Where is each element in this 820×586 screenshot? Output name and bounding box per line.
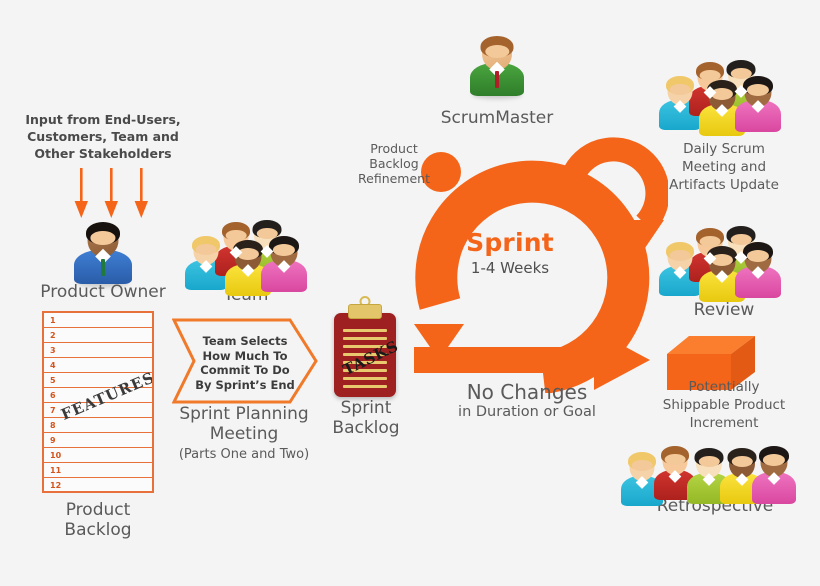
backlog-item: 12 [44, 478, 152, 493]
down-arrow-icon [105, 168, 118, 218]
sprint-backlog-clipboard: TASKS [334, 313, 396, 397]
sprint-planning-sublabel: (Parts One and Two) [164, 447, 324, 462]
sprint-backlog-label: Sprint Backlog [320, 398, 412, 438]
no-changes-title: No Changes [432, 381, 622, 405]
product-backlog-label: Product Backlog [28, 500, 168, 540]
sprint-center-text: Sprint 1-4 Weeks [420, 228, 600, 277]
backlog-item: 2 [44, 328, 152, 343]
backlog-item: 5 [44, 373, 152, 388]
product-backlog-refinement-label: Product Backlog Refinement [348, 142, 440, 186]
product-owner-avatar [72, 222, 134, 284]
retrospective-group-avatars [620, 442, 796, 508]
clipboard-clip-icon [348, 304, 382, 319]
sprint-title: Sprint [420, 228, 600, 257]
scrum-diagram: Input from End-Users, Customers, Team an… [0, 0, 820, 586]
daily-scrum-label: Daily Scrum Meeting and Artifacts Update [650, 140, 798, 195]
input-stakeholders-note: Input from End-Users, Customers, Team an… [14, 112, 192, 163]
backlog-item: 6 [44, 388, 152, 403]
sprint-planning-chevron-text: Team Selects How Much To Commit To Do By… [172, 334, 318, 393]
daily-scrum-group-avatars [656, 52, 784, 134]
team-member-avatar [751, 446, 797, 504]
sprint-planning-chevron: Team Selects How Much To Commit To Do By… [172, 318, 318, 404]
backlog-item: 7 [44, 403, 152, 418]
review-label: Review [650, 300, 798, 320]
down-arrow-icon [75, 168, 88, 218]
scrum-master-label: ScrumMaster [422, 108, 572, 128]
backlog-item: 8 [44, 418, 152, 433]
product-backlog-table: 1 2 3 4 5 6 7 8 9 10 11 12 FEATURES [42, 311, 154, 493]
backlog-item: 11 [44, 463, 152, 478]
backlog-item: 4 [44, 358, 152, 373]
review-group-avatars [656, 218, 784, 300]
backlog-item: 9 [44, 433, 152, 448]
no-changes-sub: in Duration or Goal [432, 404, 622, 421]
team-group-avatars [182, 212, 310, 292]
product-owner-label: Product Owner [8, 282, 198, 302]
sprint-duration: 1-4 Weeks [420, 259, 600, 277]
down-arrow-icon [135, 168, 148, 218]
backlog-item: 10 [44, 448, 152, 463]
scrum-master-avatar [468, 36, 526, 96]
backlog-item: 3 [44, 343, 152, 358]
backlog-item: 1 [44, 313, 152, 328]
product-increment-label: Potentially Shippable Product Increment [648, 378, 800, 433]
input-arrows-group [70, 168, 162, 220]
sprint-planning-label: Sprint Planning Meeting [164, 404, 324, 444]
tasks-stamp: TASKS [340, 337, 401, 379]
